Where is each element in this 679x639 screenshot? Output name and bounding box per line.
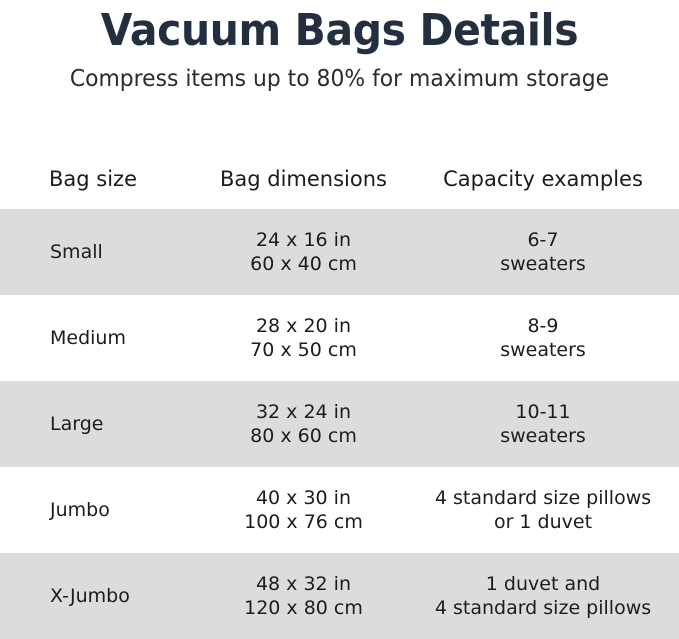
- cell-bag-size: Jumbo: [0, 467, 200, 553]
- table-row: X-Jumbo 48 x 32 in 120 x 80 cm 1 duvet a…: [0, 553, 679, 639]
- vacuum-bags-spec-table: Bag size Bag dimensions Capacity example…: [0, 148, 679, 639]
- table-row: Jumbo 40 x 30 in 100 x 76 cm 4 standard …: [0, 467, 679, 553]
- capacity-line-2: or 1 duvet: [407, 510, 679, 534]
- cell-bag-dimensions: 40 x 30 in 100 x 76 cm: [200, 467, 407, 553]
- table-body: Small 24 x 16 in 60 x 40 cm 6-7 sweaters…: [0, 209, 679, 639]
- cell-bag-dimensions: 28 x 20 in 70 x 50 cm: [200, 295, 407, 381]
- capacity-line-2: sweaters: [407, 252, 679, 276]
- dimensions-inches: 32 x 24 in: [200, 400, 407, 424]
- capacity-line-2: sweaters: [407, 424, 679, 448]
- cell-capacity-examples: 10-11 sweaters: [407, 381, 679, 467]
- dimensions-centimeters: 70 x 50 cm: [200, 338, 407, 362]
- cell-bag-size: Small: [0, 209, 200, 295]
- table-header-row: Bag size Bag dimensions Capacity example…: [0, 148, 679, 209]
- table-row: Large 32 x 24 in 80 x 60 cm 10-11 sweate…: [0, 381, 679, 467]
- cell-bag-dimensions: 32 x 24 in 80 x 60 cm: [200, 381, 407, 467]
- capacity-line-1: 1 duvet and: [407, 572, 679, 596]
- table-row: Medium 28 x 20 in 70 x 50 cm 8-9 sweater…: [0, 295, 679, 381]
- dimensions-centimeters: 80 x 60 cm: [200, 424, 407, 448]
- product-detail-infographic: Vacuum Bags Details Compress items up to…: [0, 0, 679, 639]
- cell-bag-dimensions: 24 x 16 in 60 x 40 cm: [200, 209, 407, 295]
- capacity-line-2: 4 standard size pillows: [407, 596, 679, 620]
- header-block: Vacuum Bags Details Compress items up to…: [0, 0, 679, 94]
- column-header-bag-dimensions: Bag dimensions: [200, 148, 407, 209]
- cell-capacity-examples: 8-9 sweaters: [407, 295, 679, 381]
- page-title: Vacuum Bags Details: [24, 4, 655, 58]
- column-header-capacity-examples: Capacity examples: [407, 148, 679, 209]
- dimensions-centimeters: 60 x 40 cm: [200, 252, 407, 276]
- capacity-line-2: sweaters: [407, 338, 679, 362]
- page-subtitle: Compress items up to 80% for maximum sto…: [17, 64, 662, 94]
- dimensions-centimeters: 100 x 76 cm: [200, 510, 407, 534]
- cell-bag-dimensions: 48 x 32 in 120 x 80 cm: [200, 553, 407, 639]
- cell-bag-size: X-Jumbo: [0, 553, 200, 639]
- cell-capacity-examples: 4 standard size pillows or 1 duvet: [407, 467, 679, 553]
- capacity-line-1: 10-11: [407, 400, 679, 424]
- capacity-line-1: 4 standard size pillows: [407, 486, 679, 510]
- cell-bag-size: Large: [0, 381, 200, 467]
- column-header-bag-size: Bag size: [0, 148, 200, 209]
- cell-capacity-examples: 6-7 sweaters: [407, 209, 679, 295]
- dimensions-centimeters: 120 x 80 cm: [200, 596, 407, 620]
- capacity-line-1: 6-7: [407, 228, 679, 252]
- cell-capacity-examples: 1 duvet and 4 standard size pillows: [407, 553, 679, 639]
- dimensions-inches: 48 x 32 in: [200, 572, 407, 596]
- table-header: Bag size Bag dimensions Capacity example…: [0, 148, 679, 209]
- cell-bag-size: Medium: [0, 295, 200, 381]
- table-row: Small 24 x 16 in 60 x 40 cm 6-7 sweaters: [0, 209, 679, 295]
- dimensions-inches: 28 x 20 in: [200, 314, 407, 338]
- dimensions-inches: 24 x 16 in: [200, 228, 407, 252]
- capacity-line-1: 8-9: [407, 314, 679, 338]
- dimensions-inches: 40 x 30 in: [200, 486, 407, 510]
